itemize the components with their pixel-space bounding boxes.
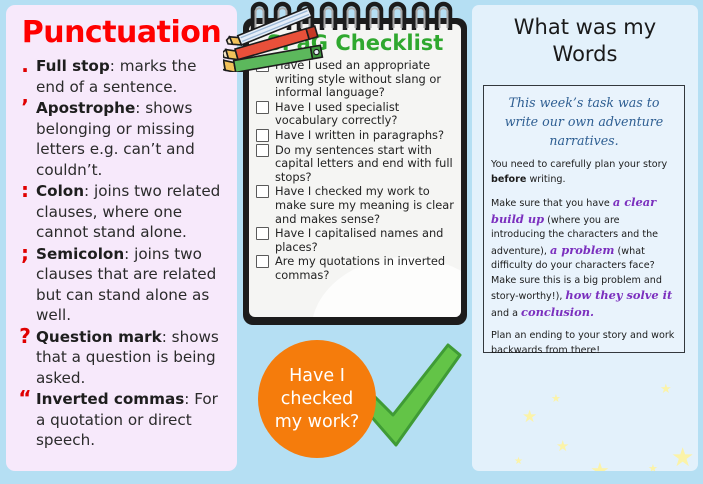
words-panel-title: What was my Words — [482, 14, 688, 68]
text-segment-bold: before — [491, 174, 526, 185]
checkbox-icon[interactable] — [256, 129, 269, 142]
paragraph-story-structure: Make sure that you have a clear build up… — [491, 195, 677, 321]
punctuation-item: . Full stop: marks the end of a sentence… — [14, 56, 229, 97]
punctuation-panel: Punctuation . Full stop: marks the end o… — [6, 5, 237, 471]
pencils-icon — [223, 0, 353, 72]
spag-item-label: Do my sentences start with capital lette… — [275, 143, 453, 184]
punctuation-mark-icon: . — [16, 54, 34, 76]
words-title-line-1: What was my — [514, 15, 656, 39]
words-panel: ★ ★ ★ ★ ★ ★ ★ ★ What was my Words This w… — [472, 5, 698, 471]
spag-item-label: Have I capitalised names and places? — [275, 226, 443, 254]
spag-item-label: Have I checked my work to make sure my m… — [275, 184, 454, 225]
star-icon: ★ — [660, 383, 672, 396]
punctuation-mark-icon: “ — [16, 387, 34, 409]
checkbox-icon[interactable] — [256, 255, 269, 268]
punctuation-mark-icon: ’ — [16, 96, 34, 118]
punctuation-term: Full stop — [36, 57, 110, 75]
text-segment: You need to carefully plan your story — [491, 159, 667, 170]
star-icon: ★ — [648, 463, 658, 471]
spag-checklist-item[interactable]: Do my sentences start with capital lette… — [253, 144, 455, 185]
star-icon: ★ — [590, 461, 610, 471]
check-work-badge: Have I checked my work? — [258, 340, 376, 458]
punctuation-term: Colon — [36, 182, 84, 200]
check-work-badge-text: Have I checked my work? — [275, 365, 360, 434]
text-segment: and a — [491, 308, 521, 319]
punctuation-list: . Full stop: marks the end of a sentence… — [6, 56, 237, 451]
punctuation-term: Question mark — [36, 328, 162, 346]
checkbox-icon[interactable] — [256, 101, 269, 114]
words-title-line-2: Words — [553, 42, 618, 66]
spag-item-label: Have I written in paragraphs? — [275, 128, 444, 142]
spag-checklist-item[interactable]: Have I capitalised names and places? — [253, 227, 455, 254]
star-icon: ★ — [522, 409, 537, 426]
spag-item-label: Are my quotations in inverted commas? — [275, 254, 445, 282]
spag-checklist-list: Have I used an appropriate writing style… — [249, 59, 461, 283]
text-segment: writing. — [526, 174, 565, 185]
punctuation-term: Inverted commas — [36, 390, 184, 408]
punctuation-item: : Colon: joins two related clauses, wher… — [14, 181, 229, 243]
highlight-solve-it: how they solve it — [565, 288, 672, 302]
punctuation-item: ; Semicolon: joins two clauses that are … — [14, 244, 229, 326]
text-segment: Make sure that you have — [491, 198, 613, 209]
spag-checklist-item[interactable]: Have I written in paragraphs? — [253, 129, 455, 143]
slide-canvas: Punctuation . Full stop: marks the end o… — [0, 0, 703, 484]
highlight-conclusion: conclusion. — [521, 305, 594, 319]
spag-item-label: Have I used specialist vocabulary correc… — [275, 100, 399, 128]
paragraph-plan-before: You need to carefully plan your story be… — [491, 158, 677, 187]
punctuation-mark-icon: ? — [16, 325, 34, 347]
check-work-line-2: checked — [275, 388, 360, 411]
spag-notepad: SPaG Checklist Have I used an appropriat… — [243, 0, 467, 326]
punctuation-title: Punctuation — [6, 15, 237, 50]
task-statement: This week’s task was to write our own ad… — [493, 93, 675, 150]
check-work-line-3: my work? — [275, 411, 360, 434]
spag-checklist-item[interactable]: Have I checked my work to make sure my m… — [253, 185, 455, 226]
checkbox-icon[interactable] — [256, 185, 269, 198]
words-content-box: This week’s task was to write our own ad… — [483, 85, 685, 353]
spag-checklist-item[interactable]: Have I used specialist vocabulary correc… — [253, 101, 455, 128]
punctuation-term: Apostrophe — [36, 99, 135, 117]
punctuation-item: “ Inverted commas: For a quotation or di… — [14, 389, 229, 451]
spag-checklist-item[interactable]: Are my quotations in inverted commas? — [253, 255, 455, 282]
checkbox-icon[interactable] — [256, 144, 269, 157]
punctuation-mark-icon: ; — [16, 242, 34, 264]
punctuation-item: ’ Apostrophe: shows belonging or missing… — [14, 98, 229, 180]
paragraph-plan-ending: Plan an ending to your story and work ba… — [491, 329, 677, 358]
punctuation-mark-icon: : — [16, 179, 34, 201]
checkbox-icon[interactable] — [256, 227, 269, 240]
star-icon: ★ — [671, 445, 694, 471]
highlight-problem: a problem — [550, 243, 615, 257]
text-segment: Plan an ending to your story and work ba… — [491, 330, 674, 356]
star-icon: ★ — [514, 457, 523, 467]
punctuation-item: ? Question mark: shows that a question i… — [14, 327, 229, 389]
punctuation-term: Semicolon — [36, 245, 124, 263]
check-work-line-1: Have I — [275, 365, 360, 388]
star-icon: ★ — [556, 439, 569, 454]
star-icon: ★ — [551, 393, 561, 404]
